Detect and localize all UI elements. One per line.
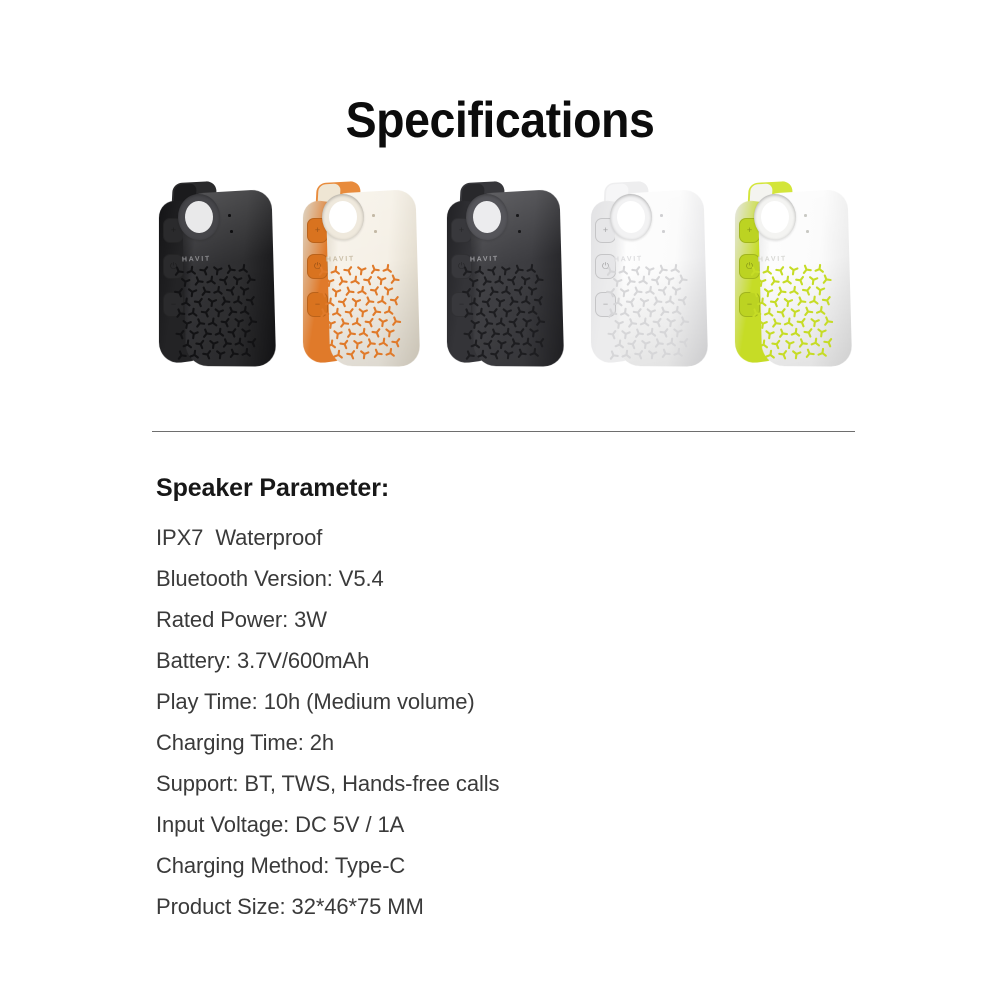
spec-line: Bluetooth Version: V5.4 [156, 558, 796, 599]
led-dot [806, 230, 809, 233]
mic-dot [660, 214, 663, 217]
led-dot [230, 230, 233, 233]
product-white-speaker[interactable]: +⏻−HAVIT [584, 178, 708, 374]
led-dot [662, 230, 665, 233]
speaker-driver-inner [616, 201, 645, 234]
brand-logo: HAVIT [614, 255, 643, 263]
section-divider [152, 431, 855, 432]
page-title: Specifications [35, 91, 965, 149]
spec-line: Play Time: 10h (Medium volume) [156, 681, 796, 722]
brand-logo: HAVIT [182, 255, 211, 263]
mic-dot [804, 214, 807, 217]
product-green-speaker[interactable]: +⏻−HAVIT [728, 178, 852, 374]
speaker-grille [316, 262, 411, 361]
speaker-grille [748, 262, 843, 361]
spec-line: IPX7 Waterproof [156, 517, 796, 558]
brand-logo: HAVIT [470, 255, 499, 263]
product-dark-gray-speaker[interactable]: +⏻−HAVIT [440, 178, 564, 374]
specifications-list: Speaker Parameter: IPX7 WaterproofBlueto… [156, 474, 796, 927]
spec-line: Charging Method: Type-C [156, 845, 796, 886]
product-black-speaker[interactable]: +⏻−HAVIT [152, 178, 276, 374]
product-orange-speaker[interactable]: +⏻−HAVIT [296, 178, 420, 374]
mic-dot [372, 214, 375, 217]
led-dot [518, 230, 521, 233]
speaker-grille [172, 262, 267, 361]
speaker-driver-inner [184, 201, 213, 234]
spec-line: Charging Time: 2h [156, 722, 796, 763]
speaker-driver-inner [472, 201, 501, 234]
speaker-driver-inner [760, 201, 789, 234]
spec-line-container: IPX7 WaterproofBluetooth Version: V5.4Ra… [156, 517, 796, 927]
spec-line: Input Voltage: DC 5V / 1A [156, 804, 796, 845]
mic-dot [516, 214, 519, 217]
brand-logo: HAVIT [758, 255, 787, 263]
spec-line: Product Size: 32*46*75 MM [156, 886, 796, 927]
spec-line: Rated Power: 3W [156, 599, 796, 640]
mic-dot [228, 214, 231, 217]
brand-logo: HAVIT [326, 255, 355, 263]
product-color-gallery: +⏻−HAVIT+⏻−HAVIT+⏻−HAVIT+⏻−HAVIT+⏻−HAVIT [150, 178, 862, 378]
led-dot [374, 230, 377, 233]
speaker-grille [460, 262, 555, 361]
speaker-grille [604, 262, 699, 361]
spec-heading: Speaker Parameter: [156, 474, 796, 503]
spec-line: Support: BT, TWS, Hands-free calls [156, 763, 796, 804]
speaker-driver-inner [328, 201, 357, 234]
spec-line: Battery: 3.7V/600mAh [156, 640, 796, 681]
